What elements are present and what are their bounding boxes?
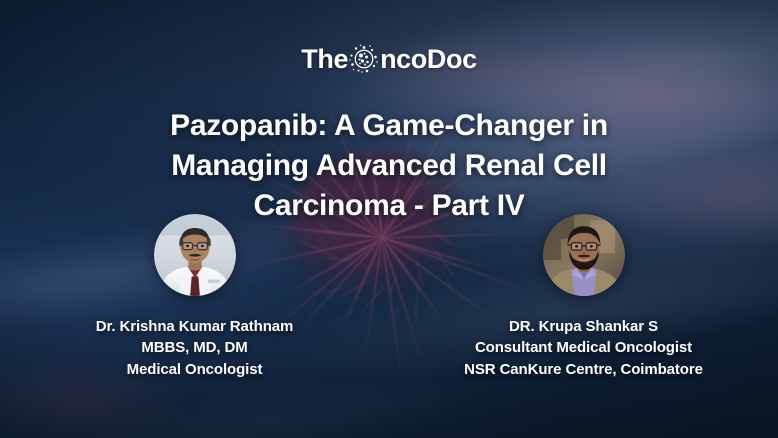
speaker-name-left: Dr. Krishna Kumar Rathnam: [96, 316, 294, 337]
speaker-name-right: DR. Krupa Shankar S: [464, 316, 703, 337]
page-title: Pazopanib: A Game-Changer in Managing Ad…: [50, 106, 728, 226]
speaker-list: Dr. Krishna Kumar Rathnam MBBS, MD, DM M…: [0, 214, 778, 380]
cell-molecule-icon: [349, 44, 379, 74]
speaker-info-left: Dr. Krishna Kumar Rathnam MBBS, MD, DM M…: [96, 316, 294, 380]
doctor-portrait-right: [543, 214, 625, 296]
speaker-role-left: Medical Oncologist: [96, 359, 294, 380]
speaker-card-right: DR. Krupa Shankar S Consultant Medical O…: [389, 214, 778, 380]
doctor-portrait-left: [154, 214, 236, 296]
speaker-credentials-left: MBBS, MD, DM: [96, 337, 294, 358]
speaker-card-left: Dr. Krishna Kumar Rathnam MBBS, MD, DM M…: [0, 214, 389, 380]
title-line-1: Pazopanib: A Game-Changer in: [50, 106, 728, 146]
speaker-role-right: Consultant Medical Oncologist: [464, 337, 703, 358]
logo-text-the: The: [301, 46, 348, 73]
brand-logo[interactable]: The: [0, 44, 778, 74]
speaker-affiliation-right: NSR CanKure Centre, Coimbatore: [464, 359, 703, 380]
title-line-2: Managing Advanced Renal Cell: [50, 146, 728, 186]
logo-text-oncodoc: ncoDoc: [380, 46, 477, 73]
webinar-title-slide: The: [0, 0, 778, 438]
speaker-info-right: DR. Krupa Shankar S Consultant Medical O…: [464, 316, 703, 380]
